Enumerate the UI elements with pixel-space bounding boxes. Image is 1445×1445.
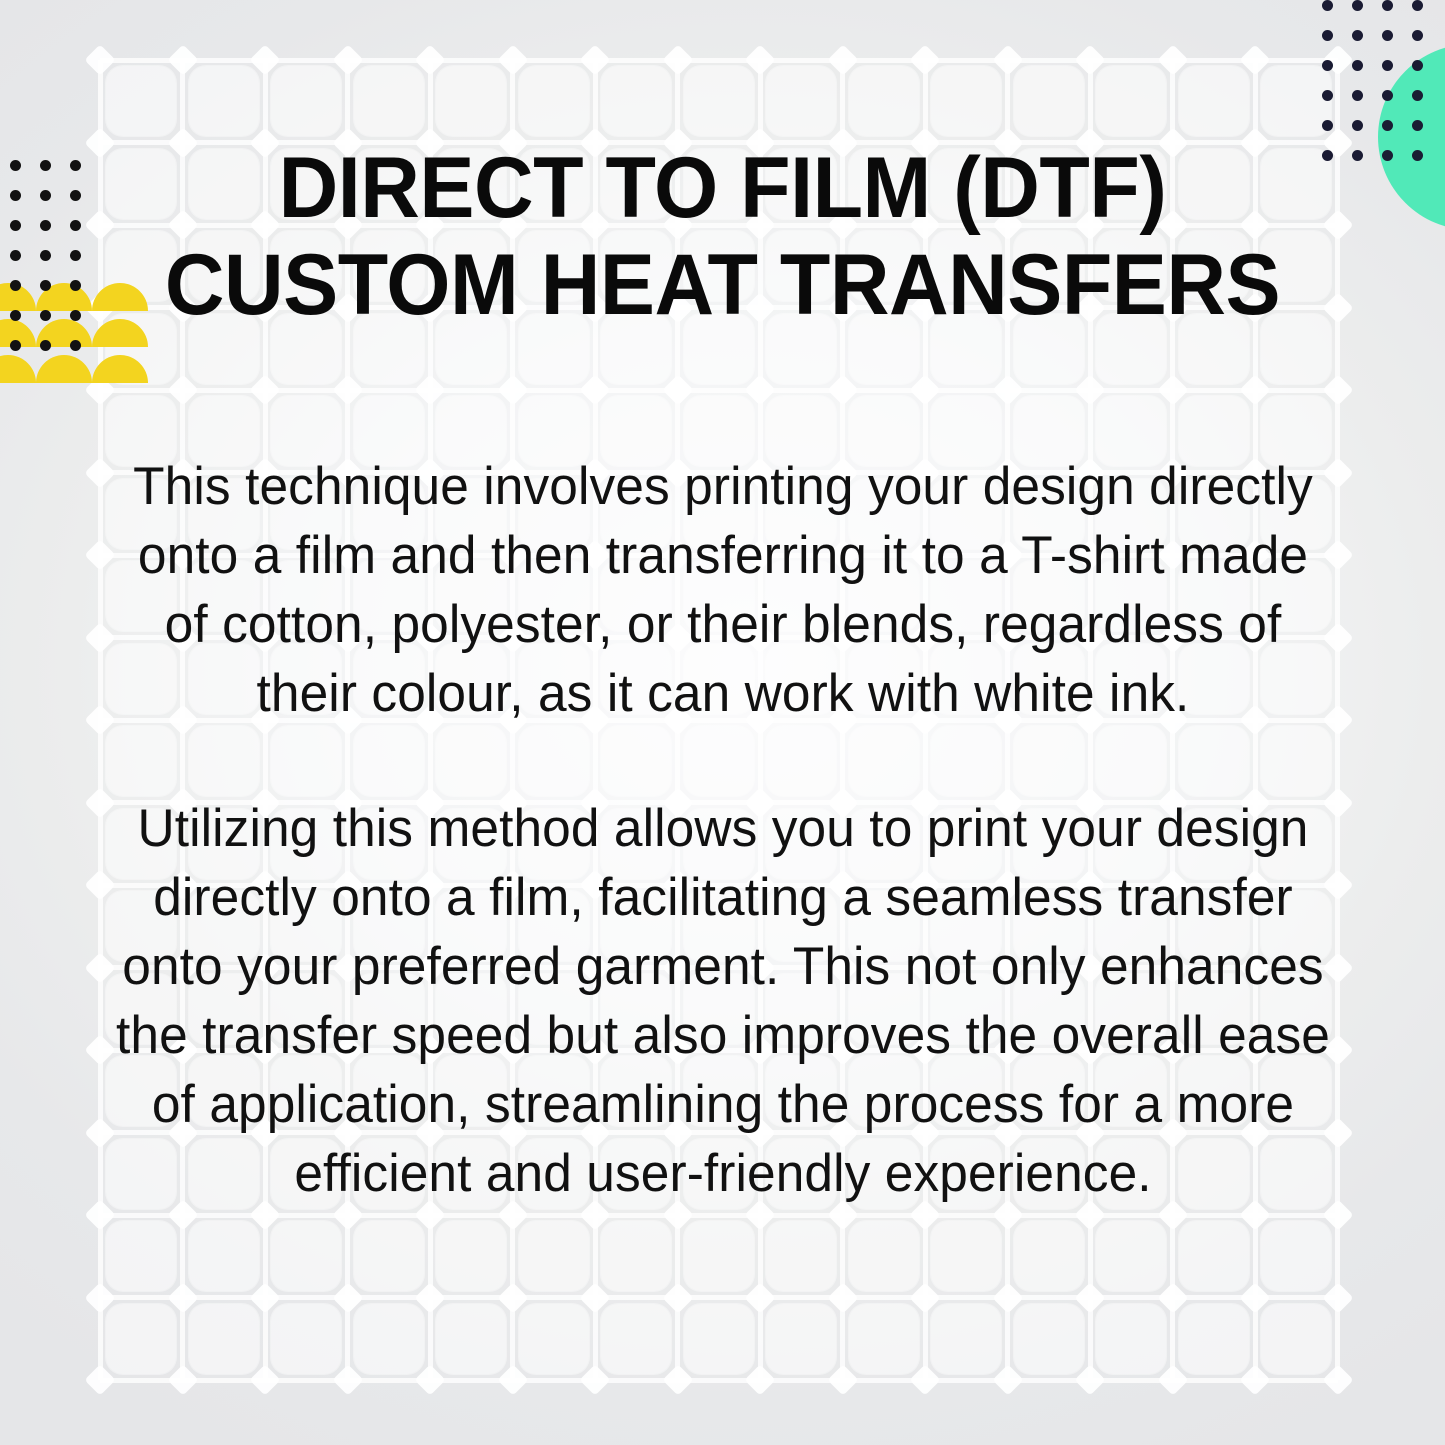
poster-canvas: DIRECT TO FILM (DTF) CUSTOM HEAT TRANSFE… — [0, 0, 1445, 1445]
body-copy: This technique involves printing your de… — [92, 452, 1354, 1208]
page-title: DIRECT TO FILM (DTF) CUSTOM HEAT TRANSFE… — [115, 140, 1329, 334]
paragraph-1: This technique involves printing your de… — [111, 452, 1335, 728]
content-area: DIRECT TO FILM (DTF) CUSTOM HEAT TRANSFE… — [0, 0, 1445, 1445]
paragraph-2: Utilizing this method allows you to prin… — [111, 794, 1335, 1208]
